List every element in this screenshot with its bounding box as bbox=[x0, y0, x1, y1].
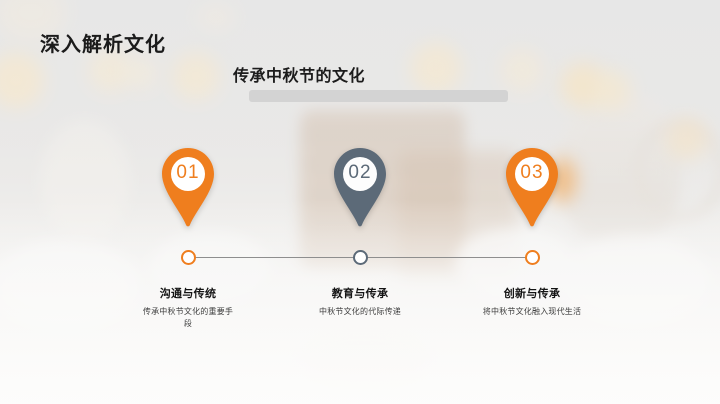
timeline-item-description: 传承中秋节文化的重要手段 bbox=[103, 306, 273, 331]
map-pin-03[interactable]: 03 bbox=[501, 146, 563, 230]
map-pin-icon bbox=[501, 146, 563, 230]
subtitle-underline-bar bbox=[249, 90, 508, 102]
map-pin-number: 03 bbox=[501, 162, 563, 184]
timeline-item-2: 教育与传承 中秋节文化的代际传递 bbox=[275, 285, 445, 318]
timeline-item-title: 教育与传承 bbox=[275, 285, 445, 301]
timeline-item-description: 中秋节文化的代际传递 bbox=[275, 306, 445, 318]
timeline-item-title: 创新与传承 bbox=[447, 285, 617, 301]
map-pin-icon bbox=[157, 146, 219, 230]
timeline-node-3[interactable] bbox=[525, 250, 540, 265]
timeline-item-title: 沟通与传统 bbox=[103, 285, 273, 301]
map-pin-number: 02 bbox=[329, 162, 391, 184]
map-pin-number: 01 bbox=[157, 162, 219, 184]
map-pin-01[interactable]: 01 bbox=[157, 146, 219, 230]
timeline-node-2[interactable] bbox=[353, 250, 368, 265]
slide: 深入解析文化 传承中秋节的文化 01 02 03 沟通与传统 传承中秋节文化的重… bbox=[0, 0, 720, 404]
page-title: 深入解析文化 bbox=[40, 28, 166, 57]
timeline-node-1[interactable] bbox=[181, 250, 196, 265]
timeline-item-1: 沟通与传统 传承中秋节文化的重要手段 bbox=[103, 285, 273, 331]
timeline-item-3: 创新与传承 将中秋节文化融入现代生活 bbox=[447, 285, 617, 318]
map-pin-icon bbox=[329, 146, 391, 230]
map-pin-02[interactable]: 02 bbox=[329, 146, 391, 230]
timeline-item-description: 将中秋节文化融入现代生活 bbox=[447, 306, 617, 318]
page-subtitle: 传承中秋节的文化 bbox=[233, 62, 365, 86]
